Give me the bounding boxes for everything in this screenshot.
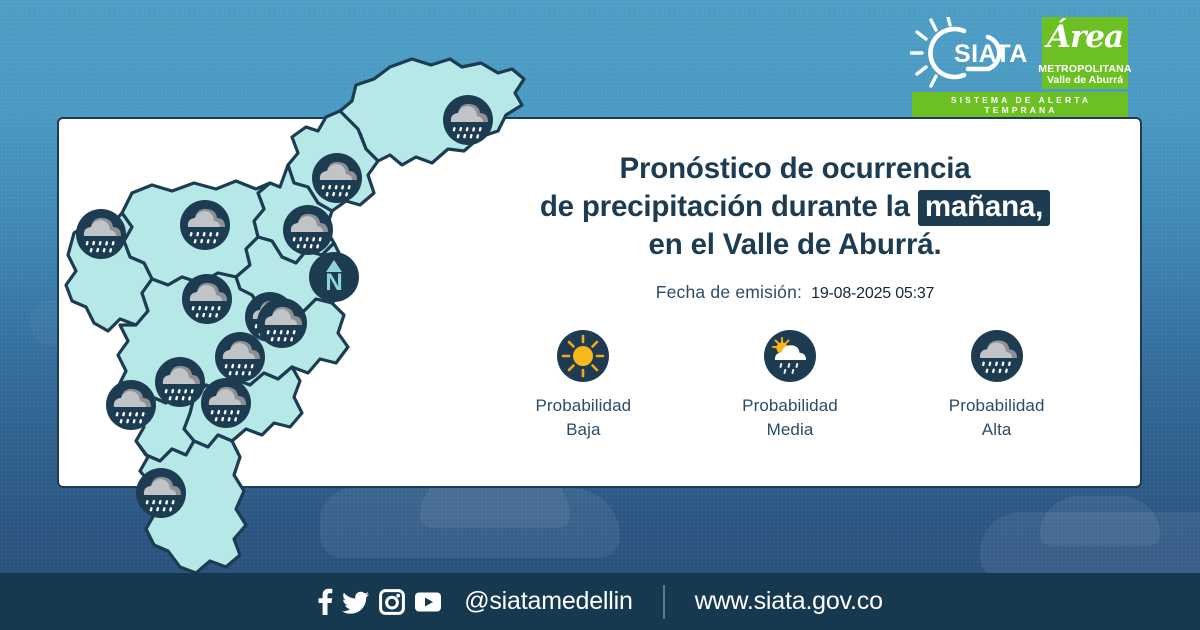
legend-item-alta[interactable]: Probabilidad Alta	[902, 330, 1092, 442]
siata-tagline: SISTEMA DE ALERTA TEMPRANA	[912, 92, 1128, 118]
headline-line-1: Pronóstico de ocurrencia	[470, 150, 1120, 188]
cloud-rain-icon	[971, 330, 1023, 382]
svg-text:SIATA: SIATA	[954, 40, 1028, 68]
emission-value: 19-08-2025 05:37	[811, 285, 934, 303]
legend-label-baja-line2: Baja	[566, 420, 600, 439]
facebook-icon[interactable]	[317, 588, 333, 616]
emission-date: Fecha de emisión: 19-08-2025 05:37	[470, 282, 1120, 303]
legend-label-alta-line2: Alta	[982, 420, 1012, 439]
siata-sun-cloud-icon: SIATA	[910, 17, 1036, 89]
headline-line-2: de precipitación durante la mañana,	[470, 188, 1120, 226]
area-metropolitana-logo: Área METROPOLITANA Valle de Aburrá	[1042, 17, 1128, 89]
footer-content: @siatamedellin www.siata.gov.co	[317, 585, 883, 619]
legend-label-baja: Probabilidad Baja	[535, 394, 631, 442]
headline-line-2-text: de precipitación durante la	[540, 190, 910, 223]
siata-logo: SIATA	[910, 17, 1036, 89]
header-logos: SIATA Área METROPOLITANA Valle de Aburrá…	[910, 16, 1128, 118]
legend-item-media[interactable]: Probabilidad Media	[695, 330, 885, 442]
headline-line-3: en el Valle de Aburrá.	[470, 226, 1120, 264]
sun-icon	[557, 330, 609, 382]
page-title: Pronóstico de ocurrencia de precipitació…	[470, 150, 1120, 264]
forecast-text-block: Pronóstico de ocurrencia de precipitació…	[470, 150, 1120, 303]
emission-label: Fecha de emisión:	[656, 282, 802, 303]
area-logo-line2: Valle de Aburrá	[1047, 75, 1123, 86]
legend-item-baja[interactable]: Probabilidad Baja	[488, 330, 678, 442]
legend-label-media-line2: Media	[767, 420, 814, 439]
social-icons	[317, 588, 442, 616]
legend-label-media-line1: Probabilidad	[742, 396, 838, 415]
probability-legend: Probabilidad Baja	[480, 330, 1100, 442]
youtube-icon[interactable]	[414, 591, 442, 613]
footer-divider	[663, 585, 665, 619]
legend-label-baja-line1: Probabilidad	[535, 396, 631, 415]
logos-row: SIATA Área METROPOLITANA Valle de Aburrá	[910, 16, 1128, 90]
instagram-icon[interactable]	[379, 589, 405, 615]
legend-label-media: Probabilidad Media	[742, 394, 838, 442]
legend-label-alta: Probabilidad Alta	[949, 394, 1045, 442]
area-logo-script: Área	[1042, 20, 1128, 54]
twitter-icon[interactable]	[342, 588, 370, 616]
headline-highlight-manana: mañana,	[918, 190, 1050, 226]
legend-label-alta-line1: Probabilidad	[949, 396, 1045, 415]
social-handle[interactable]: @siatamedellin	[464, 587, 633, 616]
website-url[interactable]: www.siata.gov.co	[695, 587, 883, 616]
infographic-canvas: SIATA Área METROPOLITANA Valle de Aburrá…	[0, 0, 1200, 630]
footer-bar: @siatamedellin www.siata.gov.co	[0, 573, 1200, 630]
sun-cloud-rain-icon	[764, 330, 816, 382]
